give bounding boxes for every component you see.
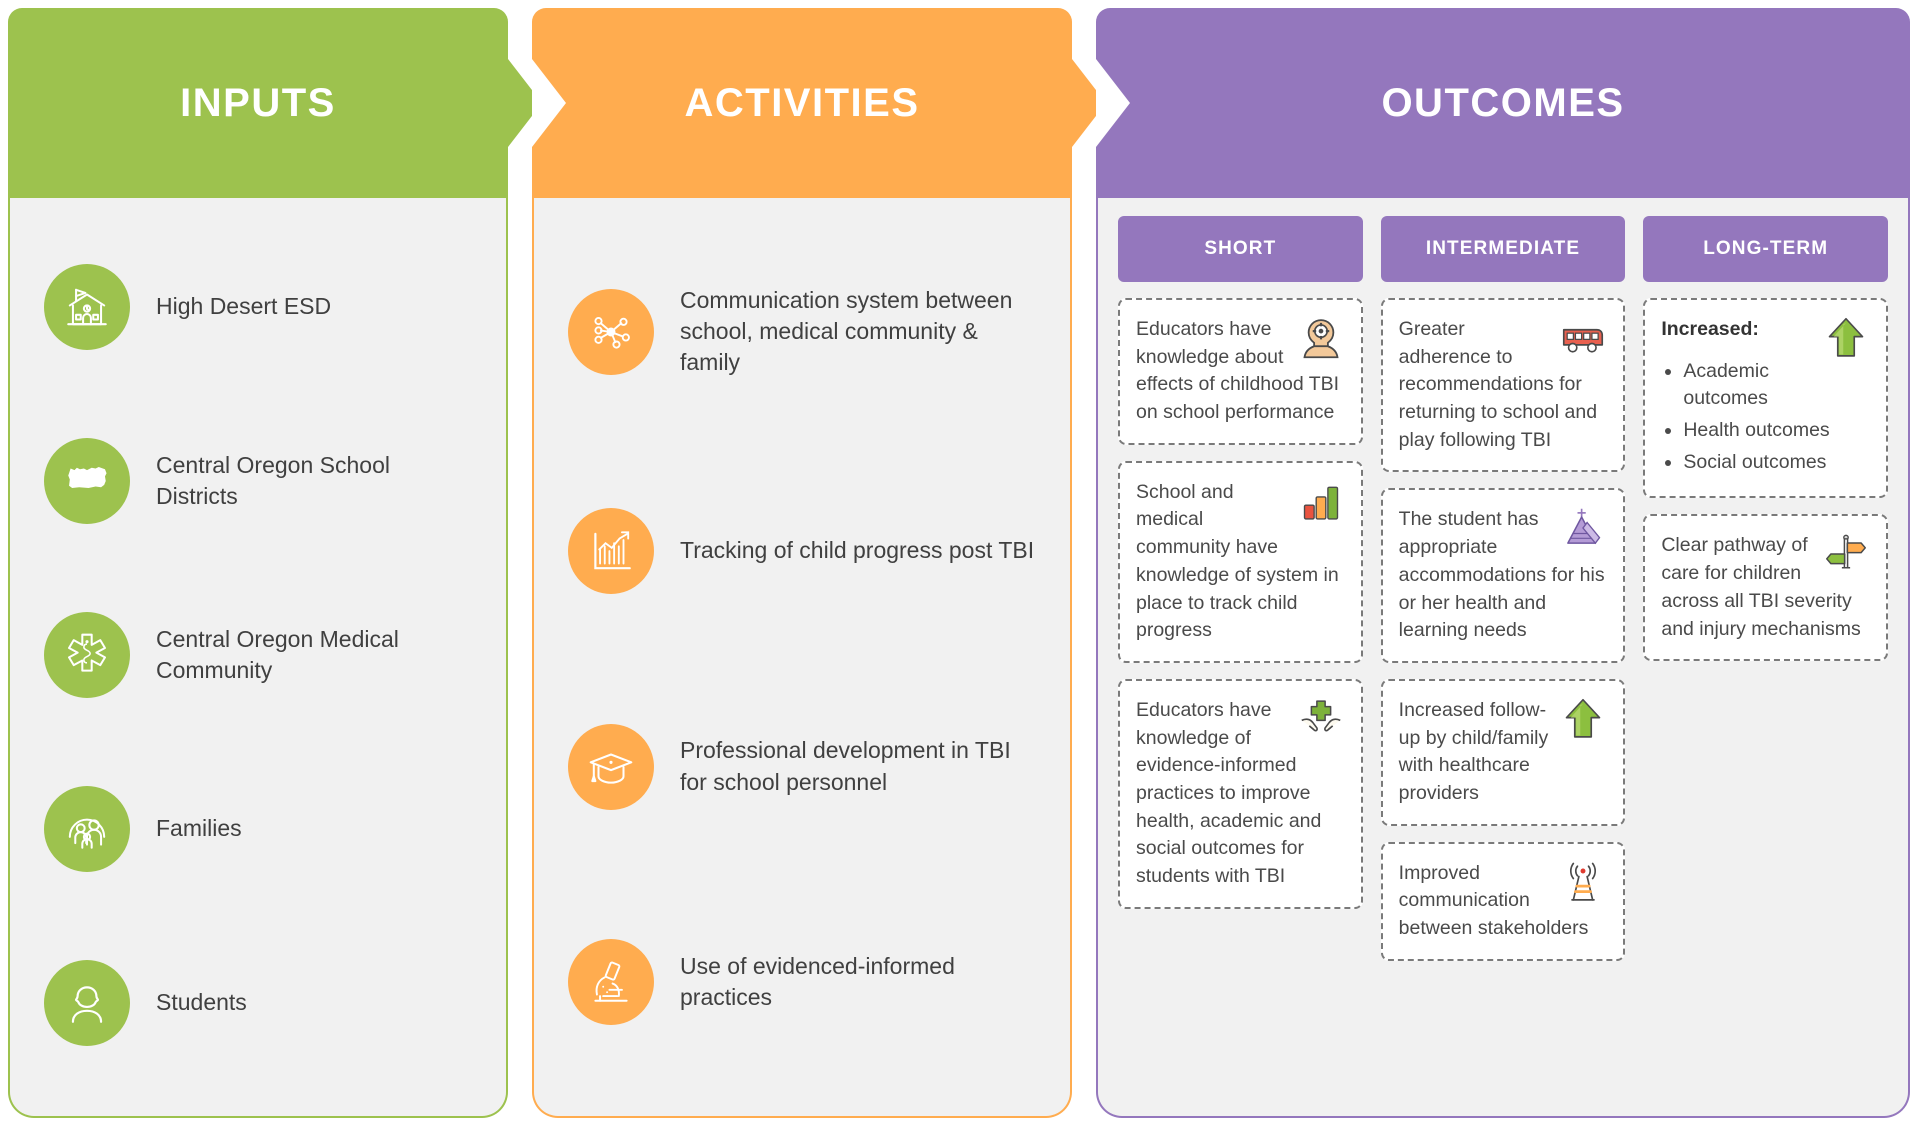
head-gear-icon bbox=[1299, 316, 1343, 360]
list-item[interactable]: Families bbox=[44, 786, 472, 872]
list-item-label: Communication system between school, med… bbox=[680, 285, 1036, 379]
broadcast-tower-icon bbox=[1561, 860, 1605, 904]
logic-model-diagram: INPUTS bbox=[0, 0, 1920, 1130]
outcome-card[interactable]: Educators have knowledge of evidence-inf… bbox=[1118, 679, 1363, 909]
outcome-card-text: Improved communication between stakehold… bbox=[1399, 862, 1589, 939]
outcome-card[interactable]: School and medical community have knowle… bbox=[1118, 461, 1363, 663]
bar-chart-growth-icon bbox=[568, 508, 654, 594]
outcomes-columns: SHORT Educators have knowledge abou bbox=[1098, 198, 1908, 1116]
list-item[interactable]: High Desert ESD bbox=[44, 264, 472, 350]
inputs-title: INPUTS bbox=[180, 81, 336, 126]
outcomes-body: SHORT Educators have knowledge abou bbox=[1096, 198, 1910, 1118]
activities-title: ACTIVITIES bbox=[684, 81, 919, 126]
outcomes-column-heading: SHORT bbox=[1118, 216, 1363, 282]
list-item[interactable]: Students bbox=[44, 960, 472, 1046]
list-item-label: Central Oregon Medical Community bbox=[156, 624, 472, 687]
hands-cross-icon bbox=[1299, 697, 1343, 741]
graduation-cap-icon bbox=[568, 724, 654, 810]
outcome-card[interactable]: Improved communication between stakehold… bbox=[1381, 842, 1626, 961]
star-of-life-icon bbox=[44, 612, 130, 698]
inputs-list: High Desert ESD Central Oregon School Di… bbox=[10, 198, 506, 1116]
inputs-header: INPUTS bbox=[8, 8, 508, 198]
chevron-notch-icon bbox=[1096, 59, 1130, 147]
outcomes-header: OUTCOMES bbox=[1096, 8, 1910, 198]
inputs-panel: INPUTS bbox=[8, 8, 508, 1118]
list-item-label: Use of evidenced-informed practices bbox=[680, 951, 1036, 1014]
outcomes-column-heading: LONG-TERM bbox=[1643, 216, 1888, 282]
list-item[interactable]: Professional development in TBI for scho… bbox=[568, 724, 1036, 810]
outcome-card[interactable]: Increased follow-up by child/family with… bbox=[1381, 679, 1626, 826]
outcome-card-text: Increased follow-up by child/family with… bbox=[1399, 699, 1549, 804]
school-building-icon bbox=[44, 264, 130, 350]
list-item[interactable]: Tracking of child progress post TBI bbox=[568, 508, 1036, 594]
list-item[interactable]: Central Oregon Medical Community bbox=[44, 612, 472, 698]
network-hub-icon bbox=[568, 289, 654, 375]
list-item-label: Professional development in TBI for scho… bbox=[680, 735, 1036, 798]
outcome-card[interactable]: Increased: Academic outcomes Health outc… bbox=[1643, 298, 1888, 498]
outcomes-title: OUTCOMES bbox=[1381, 81, 1624, 126]
accessibility-ramp-icon bbox=[1561, 506, 1605, 550]
list-item: Health outcomes bbox=[1683, 417, 1868, 445]
outcome-card[interactable]: The student has appropriate accommodatio… bbox=[1381, 488, 1626, 662]
family-icon bbox=[44, 786, 130, 872]
school-bus-icon bbox=[1561, 316, 1605, 360]
list-item-label: Students bbox=[156, 987, 247, 1018]
student-icon bbox=[44, 960, 130, 1046]
signpost-icon bbox=[1824, 532, 1868, 576]
outcomes-column-heading: INTERMEDIATE bbox=[1381, 216, 1626, 282]
activities-header: ACTIVITIES bbox=[532, 8, 1072, 198]
activities-body: Communication system between school, med… bbox=[532, 198, 1072, 1118]
list-item: Academic outcomes bbox=[1683, 358, 1868, 413]
outcome-card-text: Educators have knowledge of evidence-inf… bbox=[1136, 699, 1321, 887]
activities-list: Communication system between school, med… bbox=[534, 198, 1070, 1116]
outcome-card-bullets: Academic outcomes Health outcomes Social… bbox=[1683, 358, 1868, 477]
ascending-bars-icon bbox=[1299, 479, 1343, 523]
list-item: Social outcomes bbox=[1683, 449, 1868, 477]
up-arrow-icon bbox=[1561, 697, 1605, 741]
list-item-label: High Desert ESD bbox=[156, 291, 331, 322]
list-item[interactable]: Communication system between school, med… bbox=[568, 285, 1036, 379]
outcomes-column-intermediate: INTERMEDIATE bbox=[1381, 216, 1626, 1096]
list-item-label: Families bbox=[156, 813, 242, 844]
up-arrow-icon bbox=[1824, 316, 1868, 360]
list-item[interactable]: Central Oregon School Districts bbox=[44, 438, 472, 524]
chevron-notch-icon bbox=[532, 59, 566, 147]
outcomes-panel: OUTCOMES SHORT bbox=[1096, 8, 1910, 1118]
outcome-card[interactable]: Educators have knowledge about effects o… bbox=[1118, 298, 1363, 445]
outcome-card[interactable]: Clear pathway of care for children acros… bbox=[1643, 514, 1888, 661]
outcome-card[interactable]: Greater adherence to recommendations for… bbox=[1381, 298, 1626, 472]
oregon-map-icon bbox=[44, 438, 130, 524]
list-item-label: Tracking of child progress post TBI bbox=[680, 535, 1034, 566]
list-item[interactable]: Use of evidenced-informed practices bbox=[568, 939, 1036, 1025]
list-item-label: Central Oregon School Districts bbox=[156, 450, 472, 513]
microscope-icon bbox=[568, 939, 654, 1025]
inputs-body: High Desert ESD Central Oregon School Di… bbox=[8, 198, 508, 1118]
outcomes-column-short: SHORT Educators have knowledge abou bbox=[1118, 216, 1363, 1096]
outcomes-column-long-term: LONG-TERM Increased: Academic outcomes H… bbox=[1643, 216, 1888, 1096]
activities-panel: ACTIVITIES Communication system b bbox=[532, 8, 1072, 1118]
